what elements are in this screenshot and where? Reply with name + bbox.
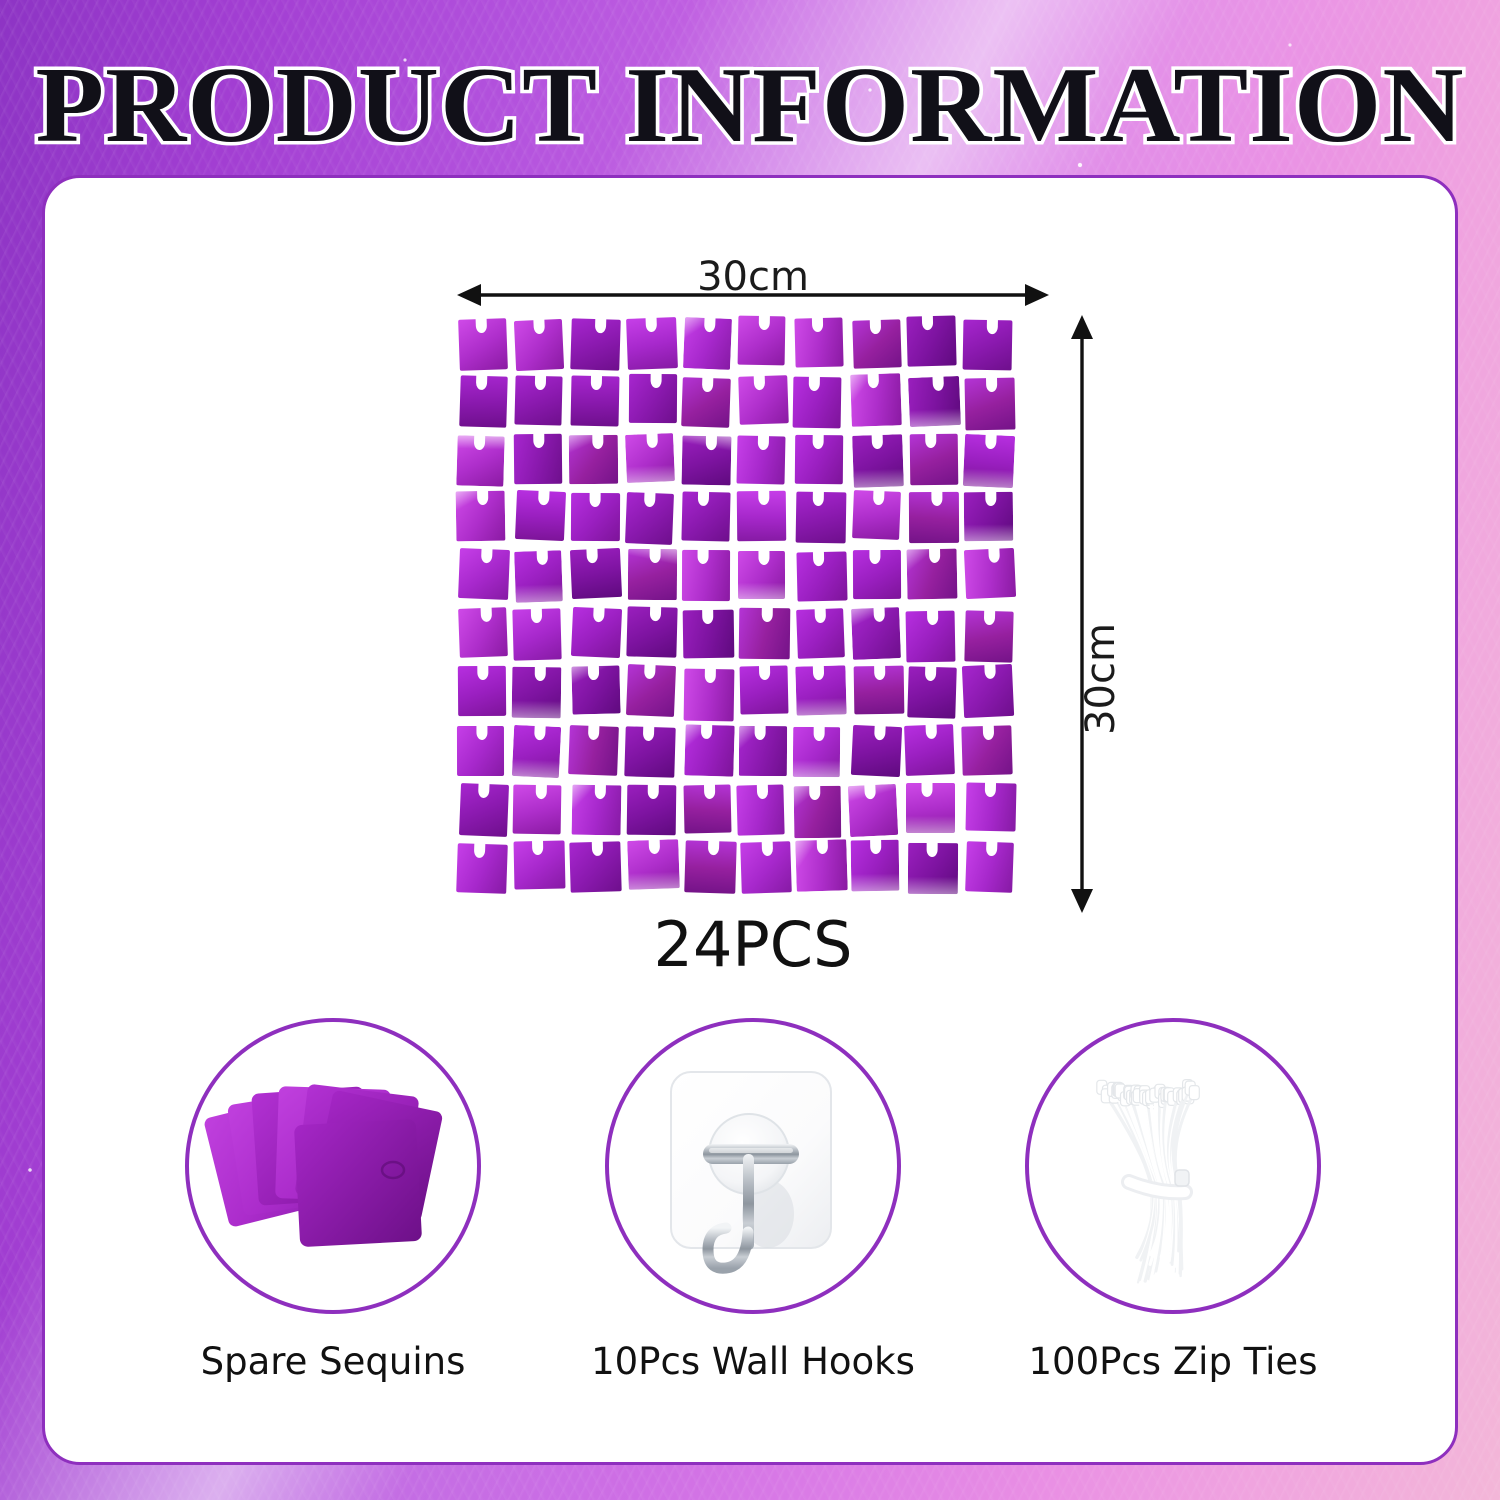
sequin-tile	[684, 840, 736, 893]
sequin-notch-icon	[595, 784, 606, 799]
sequin-notch-icon	[476, 375, 487, 390]
sequin-notch-icon	[983, 724, 994, 739]
sequin-notch-icon	[874, 725, 886, 741]
sequin-tile	[739, 726, 787, 777]
sequin-notch-icon	[813, 434, 824, 449]
sequin-tile	[570, 318, 621, 371]
sequin-tile	[737, 785, 786, 836]
sequin-notch-icon	[592, 434, 603, 449]
sequin-notch-icon	[870, 839, 881, 854]
sequin-notch-icon	[924, 433, 935, 448]
sequin-notch-icon	[530, 608, 541, 623]
sequin-notch-icon	[984, 782, 995, 797]
sequin-notch-icon	[922, 315, 933, 330]
sequin-notch-icon	[586, 548, 598, 563]
sequin-notch-icon	[870, 319, 881, 334]
sequin-tile	[512, 608, 561, 660]
sequin-tile	[682, 491, 731, 541]
sequin-notch-icon	[644, 492, 656, 507]
accessory-wall-hooks: 10Pcs Wall Hooks	[553, 1018, 953, 1338]
sequin-notch-icon	[932, 376, 944, 391]
sequin-notch-icon	[986, 377, 997, 392]
sequin-tile	[965, 841, 1014, 893]
sequin-notch-icon	[704, 317, 716, 332]
sequin-tile	[851, 608, 901, 661]
sequin-notch-icon	[872, 434, 884, 449]
sequin-notch-icon	[481, 548, 493, 563]
sequin-tile	[908, 842, 958, 893]
sequin-stack-icon	[189, 1022, 477, 1310]
sequin-notch-icon	[706, 435, 717, 450]
sequin-tile	[795, 839, 847, 892]
sequin-tile	[682, 317, 731, 370]
sequin-notch-icon	[533, 433, 544, 448]
sequin-tile	[852, 550, 900, 599]
sequin-notch-icon	[698, 549, 709, 564]
sequin-notch-icon	[537, 490, 549, 505]
sequin-notch-icon	[705, 668, 716, 683]
sequin-tile	[457, 726, 504, 776]
sequin-tile	[571, 376, 620, 427]
sequin-notch-icon	[759, 315, 770, 330]
sequin-tile	[684, 724, 734, 776]
sequin-tile	[737, 491, 786, 542]
sequin-tile	[681, 436, 731, 486]
sequin-notch-icon	[593, 607, 605, 622]
sequin-notch-icon	[924, 666, 935, 681]
sequin-tile	[456, 843, 508, 893]
sequin-notch-icon	[988, 547, 1000, 562]
sequin-notch-icon	[589, 492, 600, 507]
sequin-tile	[906, 316, 957, 367]
sequin-tile	[570, 547, 622, 598]
sequin-tile	[514, 551, 563, 604]
sequin-notch-icon	[809, 376, 820, 391]
sequin-notch-icon	[873, 665, 884, 680]
sequin-notch-icon	[588, 725, 600, 740]
sequin-tile	[906, 549, 957, 600]
quantity-label: 24PCS	[45, 908, 1461, 981]
sequin-tile	[682, 610, 733, 659]
sequin-notch-icon	[475, 318, 487, 333]
sequin-notch-icon	[929, 548, 940, 563]
sequin-tile	[459, 375, 508, 427]
sequin-tile	[626, 785, 676, 836]
sequin-tile	[568, 725, 619, 776]
sequin-tile	[738, 316, 786, 366]
sequin-tile	[514, 840, 566, 889]
sequin-notch-icon	[592, 841, 603, 856]
sequin-notch-icon	[813, 551, 824, 566]
sequin-tile	[625, 726, 676, 778]
sequin-notch-icon	[477, 490, 488, 505]
sequin-tile	[853, 666, 904, 715]
sequin-tile	[964, 491, 1013, 540]
sequin-notch-icon	[762, 841, 773, 856]
sequin-notch-icon	[985, 491, 996, 506]
sequin-notch-icon	[591, 375, 602, 390]
product-info-card: 30cm 30cm 24PCS	[42, 175, 1458, 1465]
accessory-circle-frame	[1025, 1018, 1321, 1314]
sequin-tile	[907, 666, 957, 719]
sequin-tile	[512, 667, 562, 719]
sequin-tile	[458, 607, 508, 658]
sequin-notch-icon	[650, 373, 661, 388]
sequin-notch-icon	[533, 840, 544, 855]
sequin-tile	[909, 492, 959, 544]
page-title: PRODUCT INFORMATION	[0, 52, 1500, 160]
sequin-notch-icon	[758, 435, 769, 450]
sequin-notch-icon	[984, 610, 995, 625]
sequin-tile	[457, 435, 506, 486]
sequin-tile	[456, 490, 506, 541]
sequin-tile	[572, 785, 622, 836]
sequin-tile	[853, 319, 903, 369]
sequin-tile	[795, 318, 845, 368]
sequin-notch-icon	[474, 434, 485, 449]
sequin-tile	[459, 783, 509, 837]
sequin-notch-icon	[985, 433, 997, 448]
sequin-tile	[906, 610, 955, 662]
sequin-notch-icon	[865, 784, 877, 800]
sequin-tile	[571, 607, 622, 658]
sequin-tile	[795, 435, 843, 484]
sequin-notch-icon	[931, 491, 942, 506]
sequin-tile	[852, 434, 904, 488]
sequin-notch-icon	[758, 550, 769, 565]
sequin-tile	[625, 433, 675, 483]
accessory-caption: Spare Sequins	[133, 1340, 533, 1383]
height-dimension-arrow	[1065, 313, 1099, 915]
sequin-tile	[797, 551, 849, 601]
height-dimension-label: 30cm	[1078, 623, 1124, 735]
sequin-tile	[906, 783, 955, 833]
sequin-notch-icon	[926, 723, 938, 738]
sequin-notch-icon	[869, 549, 880, 564]
sequin-tile	[458, 548, 510, 600]
sequin-tile	[739, 608, 790, 660]
sequin-notch-icon	[534, 319, 546, 334]
sequin-notch-icon	[702, 609, 713, 624]
sequin-tile	[515, 375, 563, 425]
sequin-tile	[626, 317, 678, 370]
sequin-notch-icon	[537, 550, 549, 565]
sequin-tile	[684, 784, 733, 833]
zip-tie-bundle-icon	[1029, 1022, 1317, 1310]
sequin-notch-icon	[984, 664, 996, 679]
sequin-tile	[570, 493, 620, 541]
sequin-tile	[793, 727, 841, 778]
sequin-notch-icon	[650, 548, 661, 563]
sequin-tile	[905, 724, 956, 776]
sequin-notch-icon	[814, 726, 825, 741]
sequin-notch-icon	[760, 664, 771, 679]
sequin-notch-icon	[708, 840, 719, 855]
sequin-notch-icon	[536, 784, 547, 799]
accessory-circle-frame	[185, 1018, 481, 1314]
sequin-tile	[965, 378, 1016, 430]
sequin-notch-icon	[595, 318, 606, 333]
sequin-notch-icon	[754, 725, 765, 740]
sequin-notch-icon	[927, 609, 938, 624]
sequin-notch-icon	[987, 319, 998, 334]
sequin-tile	[628, 548, 677, 599]
sequin-notch-icon	[814, 608, 826, 623]
sequin-notch-icon	[759, 490, 770, 505]
sequin-notch-icon	[926, 842, 937, 857]
sequin-tile	[737, 436, 786, 485]
sequin-notch-icon	[986, 841, 998, 856]
sequin-notch-icon	[702, 377, 714, 392]
sequin-notch-icon	[762, 607, 773, 622]
sequin-tile	[513, 785, 561, 835]
accessory-circle-frame	[605, 1018, 901, 1314]
accessory-caption: 100Pcs Zip Ties	[973, 1340, 1373, 1383]
sequin-tile	[627, 606, 678, 657]
sequin-notch-icon	[867, 373, 878, 388]
sequin-tile	[965, 611, 1014, 663]
width-dimension-arrow	[455, 278, 1051, 312]
sequin-tile	[740, 842, 792, 895]
sequin-tile	[852, 490, 901, 540]
sequin-tile	[965, 782, 1016, 832]
sequin-tile	[850, 373, 902, 427]
accessory-caption: 10Pcs Wall Hooks	[553, 1340, 953, 1383]
sequin-notch-icon	[647, 784, 658, 799]
sequin-tile	[793, 376, 842, 428]
sequin-notch-icon	[535, 724, 547, 739]
sequin-notch-icon	[874, 607, 886, 622]
sequin-notch-icon	[922, 782, 933, 797]
accessory-spare-sequins: Spare Sequins	[133, 1018, 533, 1338]
sequin-tile	[963, 319, 1013, 370]
sequin-notch-icon	[698, 491, 709, 506]
sequin-notch-icon	[476, 725, 487, 740]
sequin-notch-icon	[647, 433, 659, 448]
sequin-tile	[569, 841, 621, 893]
sequin-tile	[962, 664, 1014, 718]
sequin-tile	[684, 668, 735, 721]
infographic-canvas: PRODUCT INFORMATION 30cm 30cm 24PCS	[0, 0, 1500, 1500]
sequin-tile	[512, 725, 561, 779]
sequin-tile	[569, 435, 619, 485]
sequin-tile	[848, 784, 899, 837]
sequin-notch-icon	[480, 607, 492, 622]
sequin-tile	[458, 318, 507, 370]
sequin-notch-icon	[477, 783, 489, 798]
sequin-tile	[513, 433, 562, 483]
sequin-notch-icon	[646, 317, 658, 332]
sequin-tile	[795, 665, 846, 715]
sequin-backdrop-panel	[458, 318, 1020, 900]
sequin-tile	[681, 377, 731, 427]
sequin-notch-icon	[649, 839, 661, 854]
sequin-tile	[514, 490, 566, 541]
accessory-zip-ties: 100Pcs Zip Ties	[973, 1018, 1373, 1338]
sequin-notch-icon	[705, 784, 716, 799]
sequin-notch-icon	[650, 606, 661, 621]
sequin-notch-icon	[753, 375, 764, 390]
sequin-notch-icon	[643, 726, 654, 741]
sequin-notch-icon	[809, 784, 820, 799]
sequin-tile	[738, 375, 788, 425]
sequin-tile	[851, 725, 903, 778]
sequin-tile	[740, 665, 789, 714]
wall-hook-icon	[609, 1022, 897, 1310]
sequin-notch-icon	[536, 374, 547, 389]
sequin-tile	[458, 666, 506, 717]
sequin-tile	[851, 840, 900, 892]
sequin-tile	[628, 839, 680, 890]
sequin-tile	[908, 376, 961, 427]
sequin-tile	[964, 548, 1017, 599]
sequin-tile	[796, 492, 847, 543]
sequin-tile	[794, 785, 842, 837]
sequin-tile	[909, 433, 957, 485]
sequin-notch-icon	[757, 784, 768, 799]
sequin-tile	[963, 433, 1015, 487]
sequin-tile	[572, 665, 621, 715]
sequin-notch-icon	[873, 490, 885, 505]
sequin-notch-icon	[477, 665, 488, 680]
sequin-tile	[629, 374, 677, 423]
sequin-tile	[962, 725, 1013, 775]
sequin-notch-icon	[535, 666, 546, 681]
sequin-notch-icon	[813, 491, 824, 506]
sequin-notch-icon	[588, 665, 599, 680]
sequin-notch-icon	[816, 839, 827, 854]
sequin-tile	[682, 550, 730, 601]
sequin-tile	[626, 664, 676, 717]
sequin-notch-icon	[701, 724, 712, 739]
sequin-notch-icon	[813, 665, 824, 680]
sequin-notch-icon	[644, 664, 656, 679]
sequin-tile	[625, 492, 674, 545]
sequin-tile	[796, 608, 845, 659]
sequin-notch-icon	[812, 317, 823, 332]
sequin-tile	[738, 551, 785, 599]
sequin-tile	[514, 319, 564, 371]
sequin-notch-icon	[473, 843, 484, 858]
